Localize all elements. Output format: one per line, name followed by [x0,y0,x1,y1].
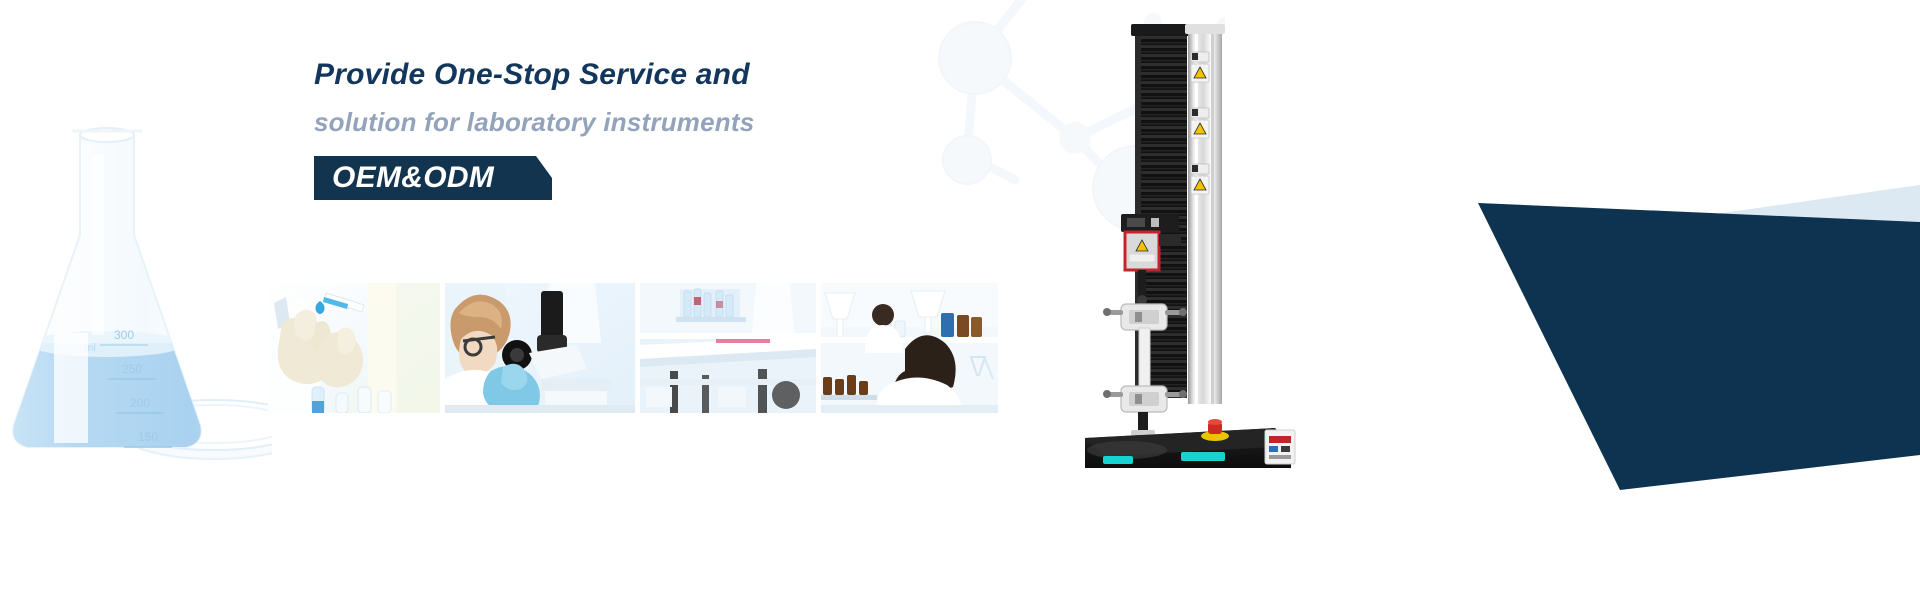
headline-line-1: Provide One-Stop Service and [314,55,934,95]
petri-dish-icon [122,400,272,459]
universal-testing-machine [1085,18,1300,468]
dark-wedge-icon [1478,203,1920,490]
headline-line-2: solution for laboratory instruments [314,103,934,142]
light-wedge-icon-2 [1695,185,1920,305]
headline-block: Provide One-Stop Service and solution fo… [314,55,934,200]
lower-grip-icon [1103,386,1187,440]
machine-base [1085,419,1295,468]
warning-label-icon [1191,52,1209,194]
desktop-computer [848,278,1088,468]
svg-text:200: 200 [130,396,150,410]
svg-text:250: 250 [122,362,142,376]
photo-pipetting: Scientist in white coat and gloves pipet… [268,283,440,413]
photo-lab-bench: Laboratory bench with glassware, racks a… [640,283,816,413]
svg-text:ml: ml [84,342,96,354]
photo-microscope: Female researcher with blue gloves looki… [445,283,635,413]
oem-odm-badge-label: OEM&ODM [332,156,494,200]
promotional-banner: 300 250 200 150 ml Provide One-Stop Serv… [0,0,1920,597]
oem-odm-badge: OEM&ODM [314,156,552,200]
svg-text:300: 300 [114,328,134,342]
light-wedge-icon [1695,185,1920,330]
erlenmeyer-flask: 300 250 200 150 ml [0,95,272,475]
svg-text:150: 150 [138,430,158,444]
flask-graduations: 300 250 200 150 ml [84,328,172,447]
